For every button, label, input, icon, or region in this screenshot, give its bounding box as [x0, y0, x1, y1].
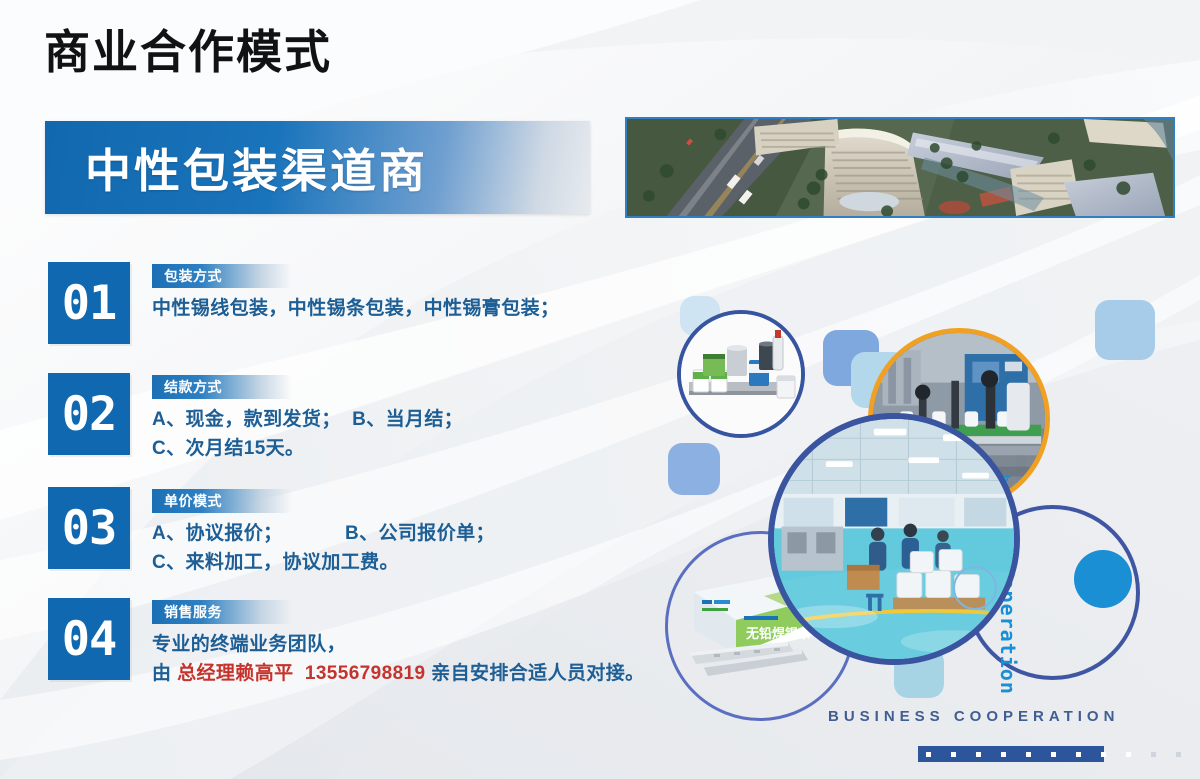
factory-floor-svg [774, 419, 1014, 659]
footer-caption: BUSINESS COOPERATION [828, 708, 1119, 725]
contact-suffix: 亲自安排合适人员对接。 [426, 663, 645, 684]
item-tag: 结款方式 [152, 375, 292, 399]
footer-dot [926, 752, 931, 757]
item-tag: 单价模式 [152, 489, 292, 513]
footer-dot [976, 752, 981, 757]
item-number: 02 [62, 391, 117, 438]
item-number-tile: 04 [48, 598, 130, 680]
page-title: 商业合作模式 [44, 28, 332, 76]
footer-dot [951, 752, 956, 757]
footer-dot [1076, 752, 1081, 757]
contact-highlight: 总经理赖高平 13556798819 [177, 663, 425, 684]
headline-banner: 中性包装渠道商 [45, 121, 590, 214]
item-number-tile: 02 [48, 373, 130, 455]
item-number-tile: 03 [48, 487, 130, 569]
footer-dot [1001, 752, 1006, 757]
item-number: 04 [62, 616, 117, 663]
item-number: 03 [62, 505, 117, 552]
item-number: 01 [62, 280, 117, 327]
headline-banner-text: 中性包装渠道商 [85, 135, 428, 201]
footer-dot [1051, 752, 1056, 757]
footer-dot [1126, 752, 1131, 757]
decor-square [668, 443, 720, 495]
products-circle-svg [681, 314, 801, 434]
svg-text:无铅焊锡条: 无铅焊锡条 [745, 626, 812, 642]
aerial-campus-photo-svg [627, 119, 1173, 216]
slide-canvas: 商业合作模式 中性包装渠道商 [0, 0, 1200, 779]
graphic-collage: 无铅焊锡条 [640, 300, 1200, 720]
footer-dot [1026, 752, 1031, 757]
footer-dot-faded [1151, 752, 1156, 757]
factory-floor-circle [768, 413, 1020, 665]
footer-dots-row [918, 746, 1200, 762]
item-number-tile: 01 [48, 262, 130, 344]
footer-dot [1101, 752, 1106, 757]
item-tag: 包装方式 [152, 264, 292, 288]
item-tag: 销售服务 [152, 600, 292, 624]
decor-square [1095, 300, 1155, 360]
products-circle [677, 310, 805, 438]
contact-prefix: 由 [152, 663, 177, 684]
decor-small-circle [953, 566, 997, 610]
aerial-campus-photo [625, 117, 1175, 218]
decor-blue-dot [1074, 550, 1132, 608]
footer-dot-faded [1176, 752, 1181, 757]
